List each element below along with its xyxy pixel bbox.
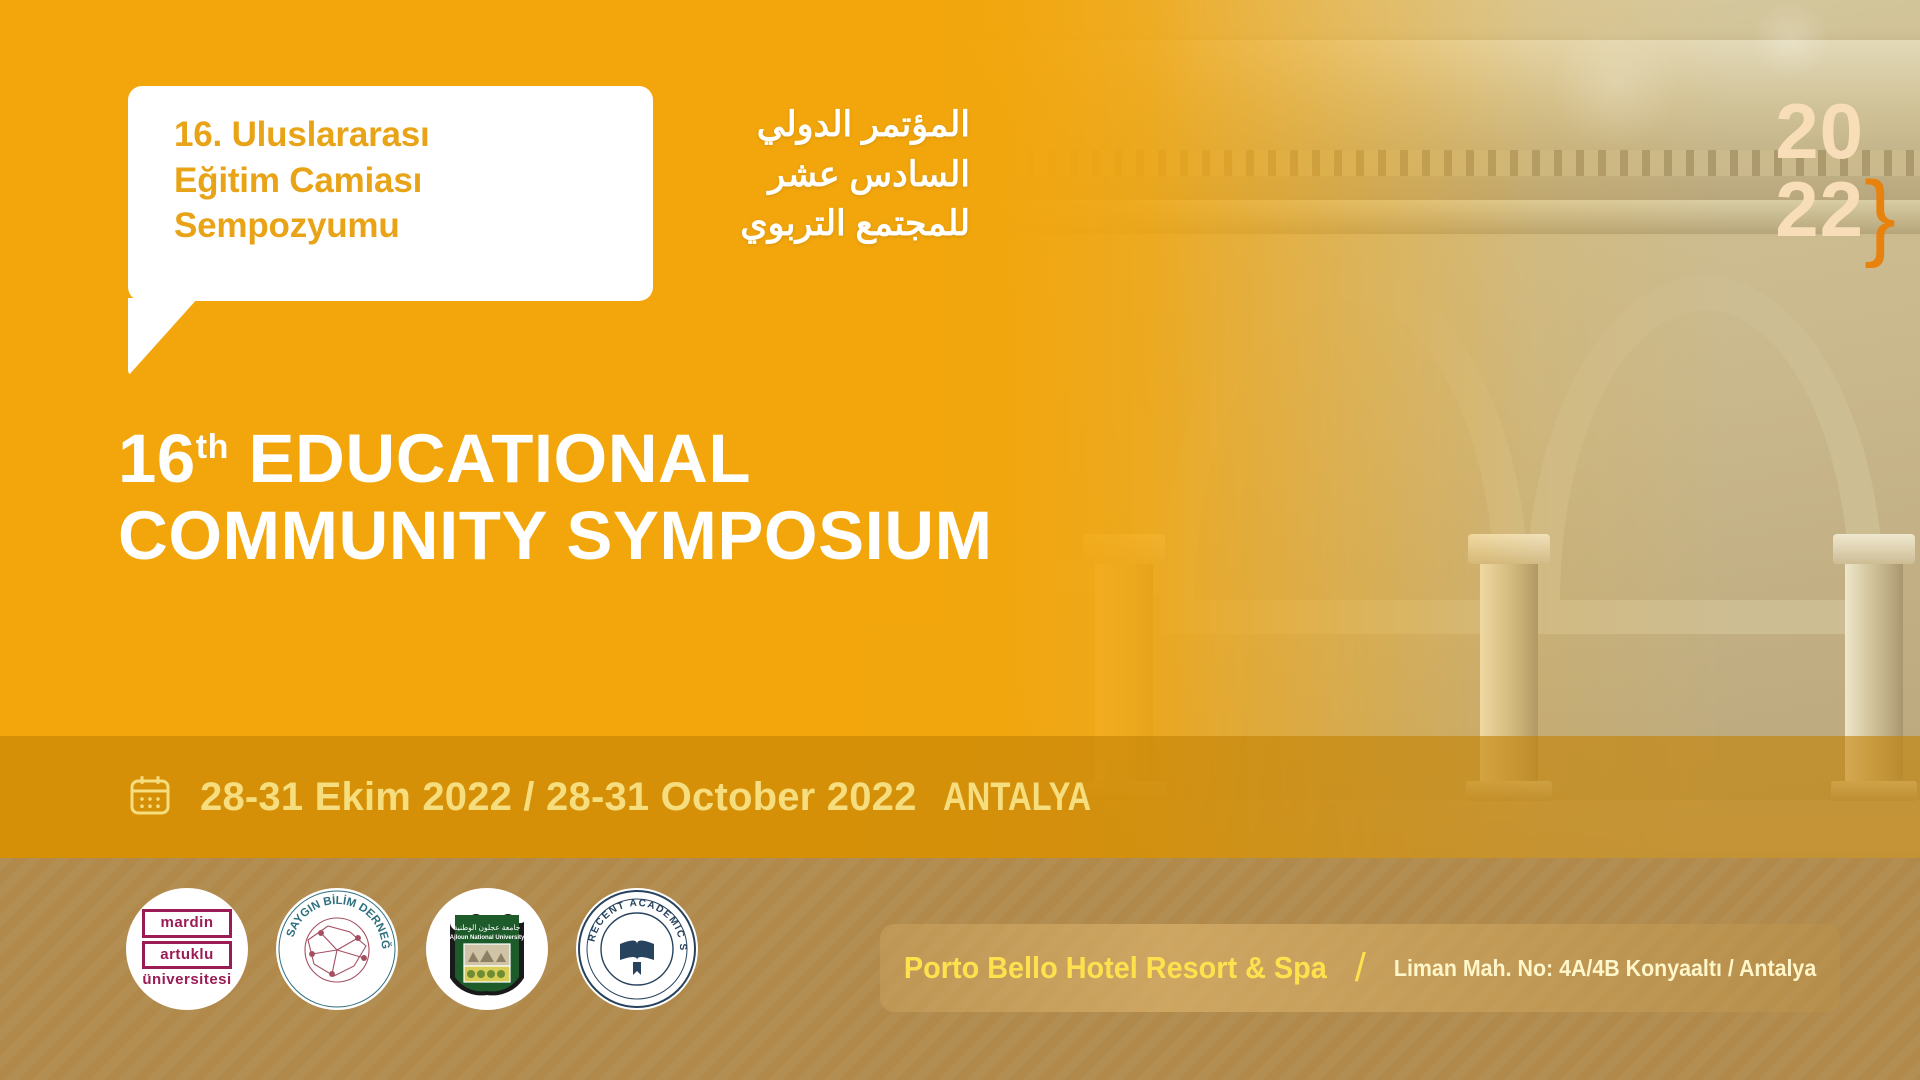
headline-line1-rest: EDUCATIONAL [249, 420, 752, 497]
svg-text:Ajloun National University: Ajloun National University [450, 935, 525, 941]
arabic-title-line3: للمجتمع التربوي [640, 199, 970, 249]
lens-flare-1 [1550, 20, 1680, 150]
venue-address: Liman Mah. No: 4A/4B Konyaaltı / Antalya [1394, 955, 1816, 982]
headline-ordinal: 16 [118, 420, 196, 497]
logo-ajloun-national-university[interactable]: جامعة عجلون الوطنية Ajloun National Univ… [426, 888, 548, 1010]
saygin-emblem-icon: SAYGIN BİLİM DERNEĞİ [276, 888, 398, 1010]
calendar-icon [126, 771, 174, 824]
year-badge: 20 22 } [1775, 96, 1864, 246]
logo-mardin-main: mardin [142, 909, 231, 938]
main-headline: 16th EDUCATIONAL COMMUNITY SYMPOSIUM [118, 420, 993, 575]
arabic-title: المؤتمر الدولي السادس عشر للمجتمع التربو… [640, 100, 970, 249]
headline-ordinal-suffix: th [196, 428, 229, 466]
year-bottom: 22 [1775, 174, 1864, 246]
ajloun-emblem-icon: جامعة عجلون الوطنية Ajloun National Univ… [426, 888, 548, 1010]
turkish-title-line3: Sempozyumu [174, 203, 635, 249]
turkish-title-line2: Eğitim Camiası [174, 158, 635, 204]
conference-banner: 16. Uluslararası Eğitim Camiası Sempozyu… [0, 0, 1920, 1080]
svg-text:جامعة عجلون الوطنية: جامعة عجلون الوطنية [454, 923, 521, 932]
turkish-title-line1: 16. Uluslararası [174, 112, 635, 158]
logo-mardin-artuklu-universitesi[interactable]: mardin artuklu üniversitesi [126, 888, 248, 1010]
turkish-title-bubble: 16. Uluslararası Eğitim Camiası Sempozyu… [128, 86, 653, 301]
footer-bar: mardin artuklu üniversitesi [0, 858, 1920, 1080]
date-text: 28-31 Ekim 2022 / 28-31 October 2022 [200, 775, 917, 820]
lens-flare-2 [1750, 0, 1830, 80]
logo-mardin-sub: artuklu [142, 941, 231, 970]
turkish-title: 16. Uluslararası Eğitim Camiası Sempozyu… [174, 112, 635, 249]
arabic-title-line1: المؤتمر الدولي [640, 100, 970, 150]
venue-bar: Porto Bello Hotel Resort & Spa / Liman M… [880, 924, 1840, 1012]
city-text: ANTALYA [943, 775, 1091, 820]
logo-recent-academic-studies[interactable]: RECENT ACADEMIC STUDIES [576, 888, 698, 1010]
recent-academic-studies-emblem-icon: RECENT ACADEMIC STUDIES [576, 888, 698, 1010]
year-top: 20 [1775, 96, 1864, 168]
arabic-title-line2: السادس عشر [640, 150, 970, 200]
venue-hotel-name: Porto Bello Hotel Resort & Spa [904, 950, 1327, 986]
headline-line1: 16th EDUCATIONAL [118, 420, 993, 497]
logo-mardin-caption: üniversitesi [142, 971, 231, 988]
venue-separator: / [1355, 946, 1366, 991]
sponsor-logos: mardin artuklu üniversitesi [126, 888, 698, 1010]
brace-icon: } [1864, 168, 1896, 264]
date-bar: 28-31 Ekim 2022 / 28-31 October 2022 ANT… [0, 736, 1920, 858]
headline-line2: COMMUNITY SYMPOSIUM [118, 497, 993, 574]
logo-saygin-bilim-dernegi[interactable]: SAYGIN BİLİM DERNEĞİ [276, 888, 398, 1010]
